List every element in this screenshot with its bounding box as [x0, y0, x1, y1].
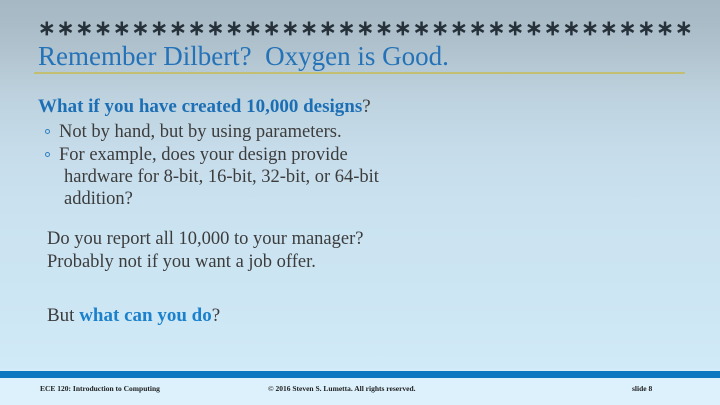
body-lead-line: What if you have created 10,000 designs? [38, 94, 678, 119]
statement-line: Do you report all 10,000 to your manager… [38, 228, 678, 251]
statement-line: Probably not if you want a job offer. [38, 251, 678, 274]
asterisk-glyph: ∗ [675, 18, 693, 39]
asterisk-glyph: ∗ [563, 18, 581, 39]
asterisk-glyph: ∗ [356, 18, 374, 39]
footer-accent-bar [0, 371, 720, 378]
title-divider-rule [34, 72, 685, 74]
asterisk-glyph: ∗ [57, 18, 75, 39]
asterisk-glyph: ∗ [225, 18, 243, 39]
asterisk-glyph: ∗ [75, 18, 93, 39]
asterisk-glyph: ∗ [469, 18, 487, 39]
asterisk-glyph: ∗ [113, 18, 131, 39]
asterisk-glyph: ∗ [619, 18, 637, 39]
slide-body: What if you have created 10,000 designs?… [38, 94, 678, 328]
slide: ∗∗∗∗∗∗∗∗∗∗∗∗∗∗∗∗∗∗∗∗∗∗∗∗∗∗∗∗∗∗∗∗∗∗∗ Reme… [0, 0, 720, 405]
asterisk-glyph: ∗ [263, 18, 281, 39]
asterisk-divider: ∗∗∗∗∗∗∗∗∗∗∗∗∗∗∗∗∗∗∗∗∗∗∗∗∗∗∗∗∗∗∗∗∗∗∗ [38, 17, 693, 39]
list-item-line: addition? [59, 188, 678, 210]
closing-emphasis: what can you do [79, 305, 212, 326]
body-lead-emphasis: What if you have created 10,000 designs [38, 96, 362, 117]
body-lead-tail: ? [362, 96, 370, 117]
asterisk-glyph: ∗ [244, 18, 262, 39]
asterisk-glyph: ∗ [169, 18, 187, 39]
asterisk-glyph: ∗ [638, 18, 656, 39]
asterisk-glyph: ∗ [94, 18, 112, 39]
asterisk-glyph: ∗ [413, 18, 431, 39]
asterisk-glyph: ∗ [188, 18, 206, 39]
list-item: Not by hand, but by using parameters. [38, 121, 678, 143]
asterisk-glyph: ∗ [338, 18, 356, 39]
asterisk-glyph: ∗ [300, 18, 318, 39]
footer-copyright: © 2016 Steven S. Lumetta. All rights res… [268, 384, 416, 393]
asterisk-glyph: ∗ [207, 18, 225, 39]
asterisk-glyph: ∗ [150, 18, 168, 39]
footer-course-label: ECE 120: Introduction to Computing [40, 384, 160, 393]
asterisk-glyph: ∗ [431, 18, 449, 39]
bullet-dot-icon [45, 152, 50, 157]
list-item-line: For example, does your design provide [59, 145, 348, 165]
asterisk-glyph: ∗ [282, 18, 300, 39]
slide-footer: ECE 120: Introduction to Computing © 201… [0, 378, 720, 405]
closing-prefix: But [47, 305, 79, 326]
list-item-line: hardware for 8-bit, 16-bit, 32-bit, or 6… [59, 166, 678, 188]
asterisk-glyph: ∗ [544, 18, 562, 39]
asterisk-glyph: ∗ [38, 18, 56, 39]
asterisk-glyph: ∗ [581, 18, 599, 39]
asterisk-glyph: ∗ [656, 18, 674, 39]
asterisk-glyph: ∗ [319, 18, 337, 39]
list-item-text: Not by hand, but by using parameters. [59, 121, 678, 143]
asterisk-glyph: ∗ [132, 18, 150, 39]
list-item-text: For example, does your design provide ha… [59, 144, 678, 210]
asterisk-glyph: ∗ [450, 18, 468, 39]
asterisk-glyph: ∗ [525, 18, 543, 39]
asterisk-glyph: ∗ [600, 18, 618, 39]
closing-line: But what can you do? [38, 304, 678, 328]
asterisk-glyph: ∗ [375, 18, 393, 39]
list-item: For example, does your design provide ha… [38, 144, 678, 210]
page-title: Remember Dilbert? Oxygen is Good. [38, 40, 698, 72]
asterisk-glyph: ∗ [394, 18, 412, 39]
footer-slide-number: slide 8 [632, 384, 652, 393]
asterisk-glyph: ∗ [488, 18, 506, 39]
spacer [38, 274, 678, 286]
asterisk-glyph: ∗ [506, 18, 524, 39]
bullet-dot-icon [45, 129, 50, 134]
closing-suffix: ? [212, 305, 220, 326]
